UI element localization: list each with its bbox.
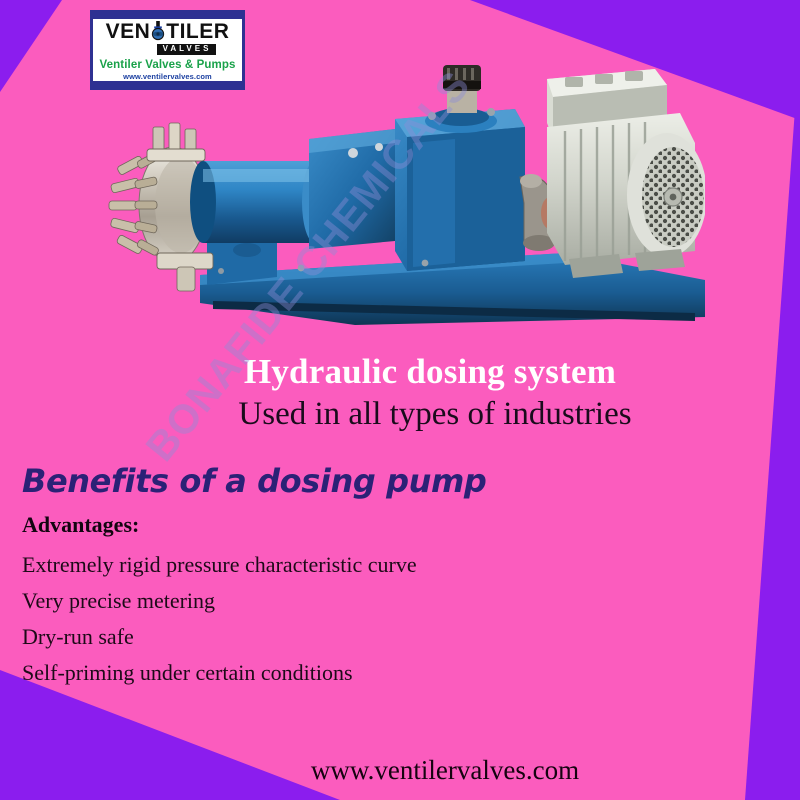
product-photo-dosing-pump — [95, 65, 705, 325]
motor-fan-cowl-grille — [627, 133, 705, 257]
page-subtitle: Used in all types of industries — [0, 396, 800, 433]
page-title: Hydraulic dosing system — [0, 352, 800, 392]
logo-brand-part2: TILER — [166, 21, 229, 42]
advantages-list: Extremely rigid pressure characteristic … — [22, 547, 662, 691]
list-item: Dry-run safe — [22, 619, 662, 655]
advantages-heading: Advantages: — [22, 512, 139, 538]
benefits-heading: Benefits of a dosing pump — [22, 462, 486, 500]
list-item: Self-priming under certain conditions — [22, 655, 662, 691]
list-item: Extremely rigid pressure characteristic … — [22, 547, 662, 583]
stroke-adjustment-knob — [443, 65, 481, 113]
footer-website-url: www.ventilervalves.com — [0, 755, 800, 786]
poster-canvas: VEN TILER VALVES Ventiler Valves & Pumps… — [0, 0, 800, 800]
blue-gearbox-housing — [395, 108, 525, 271]
logo-brand-part1: VEN — [106, 21, 151, 42]
blue-pump-body — [190, 161, 328, 257]
list-item: Very precise metering — [22, 583, 662, 619]
logo-wordmark: VEN TILER — [106, 19, 230, 43]
butterfly-valve-icon — [149, 21, 167, 41]
logo-subbrand: VALVES — [157, 44, 217, 55]
grey-electric-motor — [547, 69, 705, 278]
